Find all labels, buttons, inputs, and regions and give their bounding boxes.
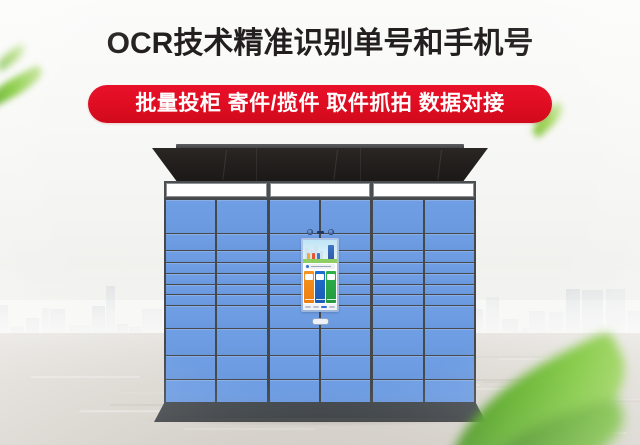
locker-column [425,200,474,402]
locker-module-right-cabinet [373,200,474,402]
locker-door[interactable] [425,234,474,250]
locker-door[interactable] [270,329,319,355]
feature-badge: 批量投柜 寄件/揽件 取件抓拍 数据对接 [88,85,552,123]
locker-door[interactable] [217,380,266,402]
promo-banner-image: OCR技术精准识别单号和手机号 批量投柜 寄件/揽件 取件抓拍 数据对接 [0,0,640,445]
screen-bottom-nav[interactable] [303,304,337,310]
locker-column [166,200,215,402]
locker-module-left-cabinet [166,200,267,402]
locker-door[interactable] [425,306,474,328]
locker-door[interactable] [373,306,422,328]
locker-ground-shadow [148,418,492,426]
feature-badge-label: 批量投柜 寄件/揽件 取件抓拍 数据对接 [135,93,504,115]
locker-door[interactable] [217,251,266,261]
locker-door[interactable] [166,295,215,305]
locker-door[interactable] [425,251,474,261]
locker-door[interactable] [373,263,422,273]
screen-banner-illustration [303,240,337,263]
locker-door[interactable] [425,329,474,355]
locker-door[interactable] [217,234,266,250]
locker-door[interactable] [166,356,215,380]
locker-door[interactable] [217,200,266,233]
send-icon [327,274,335,280]
banner-locker-graphic [328,245,334,260]
locker-door[interactable] [321,380,370,402]
locker-door[interactable] [217,306,266,328]
locker-door[interactable] [166,274,215,284]
locker-door[interactable] [166,306,215,328]
ground-texture-streak [31,376,140,378]
camera-lens-left-icon [307,229,313,235]
tile-pickup-parcel[interactable] [315,271,325,303]
screen-action-tiles [303,270,337,304]
locker-door[interactable] [270,380,319,402]
tile-send-parcel[interactable] [326,271,336,303]
locker-door[interactable] [166,380,215,402]
ir-emitter-icon [317,231,324,234]
locker-door[interactable] [321,356,370,380]
screen-search-bar[interactable] [305,264,335,269]
locker-door[interactable] [425,274,474,284]
locker-door[interactable] [373,200,422,233]
locker-door[interactable] [373,356,422,380]
nav-dot-1[interactable] [305,306,311,308]
locker-column [373,200,422,402]
locker-door[interactable] [217,329,266,355]
nav-dot-4[interactable] [329,306,335,308]
locker-door[interactable] [217,274,266,284]
camera-lens-right-icon [328,229,334,235]
locker-door[interactable] [166,251,215,261]
locker-door[interactable] [373,295,422,305]
smart-parcel-locker [140,144,500,424]
canopy-awning [152,148,488,182]
header-panel-right [373,183,474,197]
locker-door[interactable] [425,380,474,402]
locker-door[interactable] [217,356,266,380]
kiosk-sensor-bar [304,228,336,236]
kiosk-control-panel [301,228,339,330]
locker-column [217,200,266,402]
page-title: OCR技术精准识别单号和手机号 [0,27,640,61]
locker-door[interactable] [373,329,422,355]
locker-door[interactable] [166,285,215,294]
tile-deposit-parcel[interactable] [304,271,314,303]
locker-door[interactable] [373,234,422,250]
locker-door[interactable] [425,200,474,233]
locker-door[interactable] [373,285,422,294]
nav-dot-2[interactable] [313,306,319,308]
package-icon [316,274,324,280]
box-icon [305,274,313,280]
locker-door[interactable] [166,200,215,233]
header-panel-center [270,183,371,197]
locker-door[interactable] [166,234,215,250]
kiosk-touchscreen[interactable] [301,238,339,312]
locker-door[interactable] [425,263,474,273]
ground-texture-streak [183,428,315,430]
locker-door[interactable] [270,356,319,380]
header-panel-left [166,183,267,197]
locker-door[interactable] [217,295,266,305]
locker-door[interactable] [166,329,215,355]
locker-door[interactable] [373,274,422,284]
locker-door[interactable] [425,285,474,294]
locker-door[interactable] [217,263,266,273]
locker-door[interactable] [166,263,215,273]
nav-dot-3[interactable] [321,306,327,308]
locker-door[interactable] [373,380,422,402]
locker-door[interactable] [217,285,266,294]
locker-door[interactable] [321,329,370,355]
locker-door[interactable] [425,356,474,380]
locker-door[interactable] [373,251,422,261]
card-reader-slot[interactable] [312,318,329,325]
locker-header-band [164,181,476,199]
locker-door[interactable] [425,295,474,305]
